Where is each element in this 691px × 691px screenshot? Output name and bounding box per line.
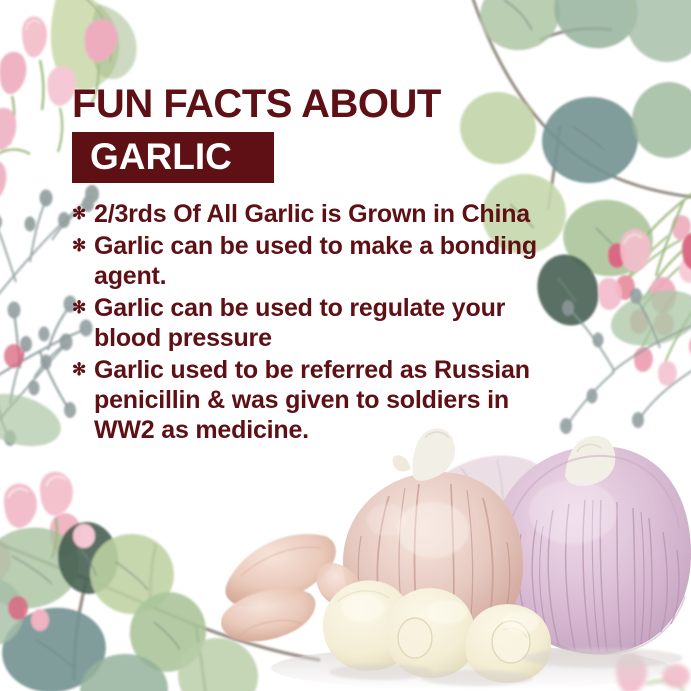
floral-bottom-right [616,653,690,691]
list-item: ✻ Garlic can be used to regulate your bl… [72,293,542,353]
fact-text: Garlic can be used to make a bonding age… [94,231,542,291]
fact-text: Garlic used to be referred as Russian pe… [94,355,542,445]
floral-bottom-left [0,472,320,691]
floral-right-middle [560,188,691,434]
asterisk-bullet-icon: ✻ [72,293,94,323]
asterisk-bullet-icon: ✻ [72,231,94,261]
poster-content: FUN FACTS ABOUT GARLIC ✻ 2/3rds Of All G… [72,84,542,447]
asterisk-bullet-icon: ✻ [72,355,94,385]
list-item: ✻ 2/3rds Of All Garlic is Grown in China [72,199,542,229]
page-title: FUN FACTS ABOUT [72,84,542,124]
poster-canvas: FUN FACTS ABOUT GARLIC ✻ 2/3rds Of All G… [0,0,691,691]
subject-badge: GARLIC [72,132,274,183]
asterisk-bullet-icon: ✻ [72,199,94,229]
list-item: ✻ Garlic used to be referred as Russian … [72,355,542,445]
list-item: ✻ Garlic can be used to make a bonding a… [72,231,542,291]
fact-text: 2/3rds Of All Garlic is Grown in China [94,199,542,229]
facts-list: ✻ 2/3rds Of All Garlic is Grown in China… [72,199,542,445]
fact-text: Garlic can be used to regulate your bloo… [94,293,542,353]
garlic-bulbs-image [221,416,691,691]
